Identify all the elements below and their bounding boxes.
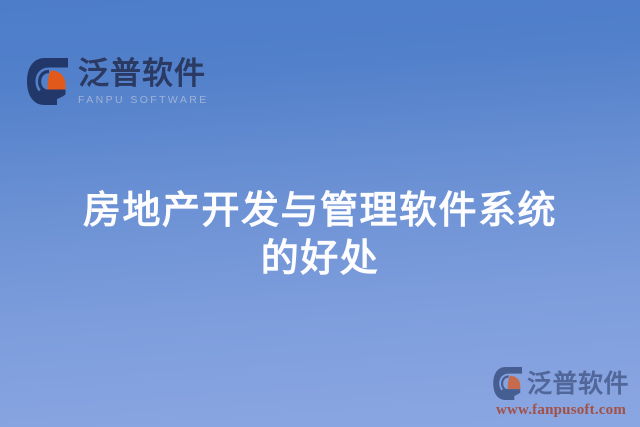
- brand-name-cn: 泛普软件: [78, 59, 209, 91]
- promo-banner: 泛普软件 FANPU SOFTWARE 房地产开发与管理软件系统 的好处 泛普软…: [0, 0, 640, 427]
- watermark: 泛普软件 www.fanpusoft.com: [490, 367, 632, 419]
- brand-name-en: FANPU SOFTWARE: [78, 95, 209, 107]
- watermark-name-cn: 泛普软件: [527, 371, 629, 396]
- fanpu-logo-icon: [27, 58, 69, 105]
- watermark-url: www.fanpusoft.com: [496, 402, 626, 419]
- page-title-line-1: 房地产开发与管理软件系统: [28, 186, 612, 234]
- page-title: 房地产开发与管理软件系统 的好处: [0, 186, 640, 282]
- watermark-logo-row: 泛普软件: [493, 367, 629, 400]
- fanpu-logo-watermark-icon: [493, 367, 523, 400]
- brand-logo: 泛普软件 FANPU SOFTWARE: [27, 58, 209, 106]
- page-title-line-2: 的好处: [28, 234, 612, 282]
- brand-text-block: 泛普软件 FANPU SOFTWARE: [78, 58, 209, 106]
